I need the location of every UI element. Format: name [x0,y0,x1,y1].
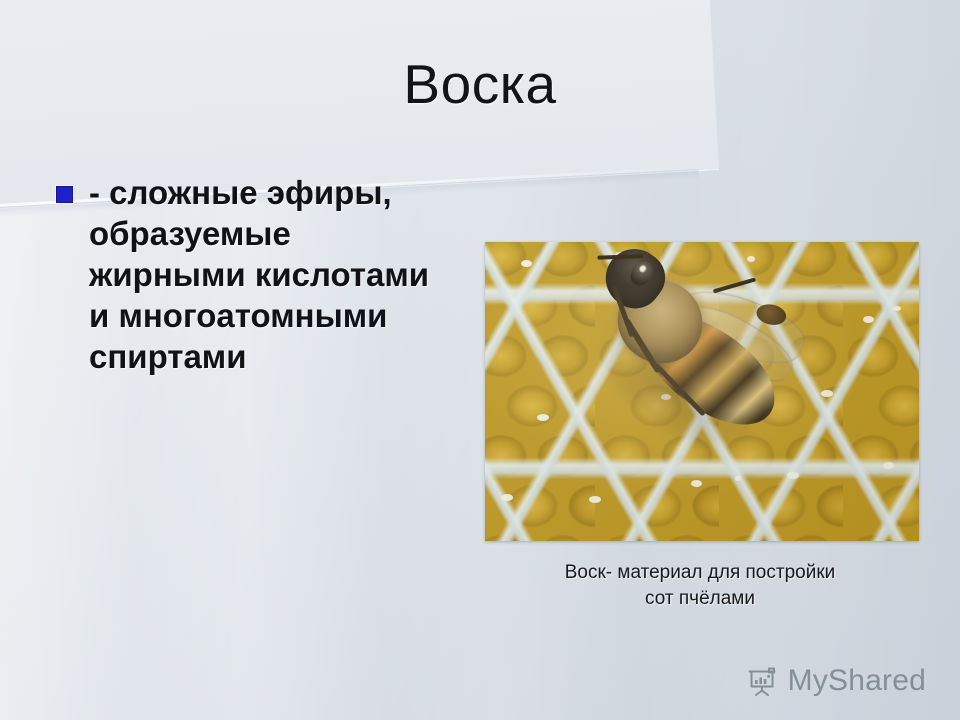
photo-caption-line-2: сот пчёлами [500,586,900,612]
presentation-board-icon [747,665,779,697]
presentation-slide: Воска - сложные эфиры, образуемые жирным… [0,0,960,720]
bullet-item: - сложные эфиры, образуемые жирными кисл… [56,172,456,377]
slide-title: Воска [0,56,960,114]
photo-caption: Воск- материал для постройки сот пчёлами [500,560,900,612]
myshared-watermark-text: MyShared [788,664,926,698]
myshared-watermark: MyShared [747,664,926,698]
square-bullet-icon [56,186,73,203]
bullet-item-text: - сложные эфиры, образуемые жирными кисл… [89,172,456,377]
slide-body: - сложные эфиры, образуемые жирными кисл… [56,172,456,377]
honeycomb-bee-photo [485,242,919,541]
photo-caption-line-1: Воск- материал для постройки [500,560,900,586]
